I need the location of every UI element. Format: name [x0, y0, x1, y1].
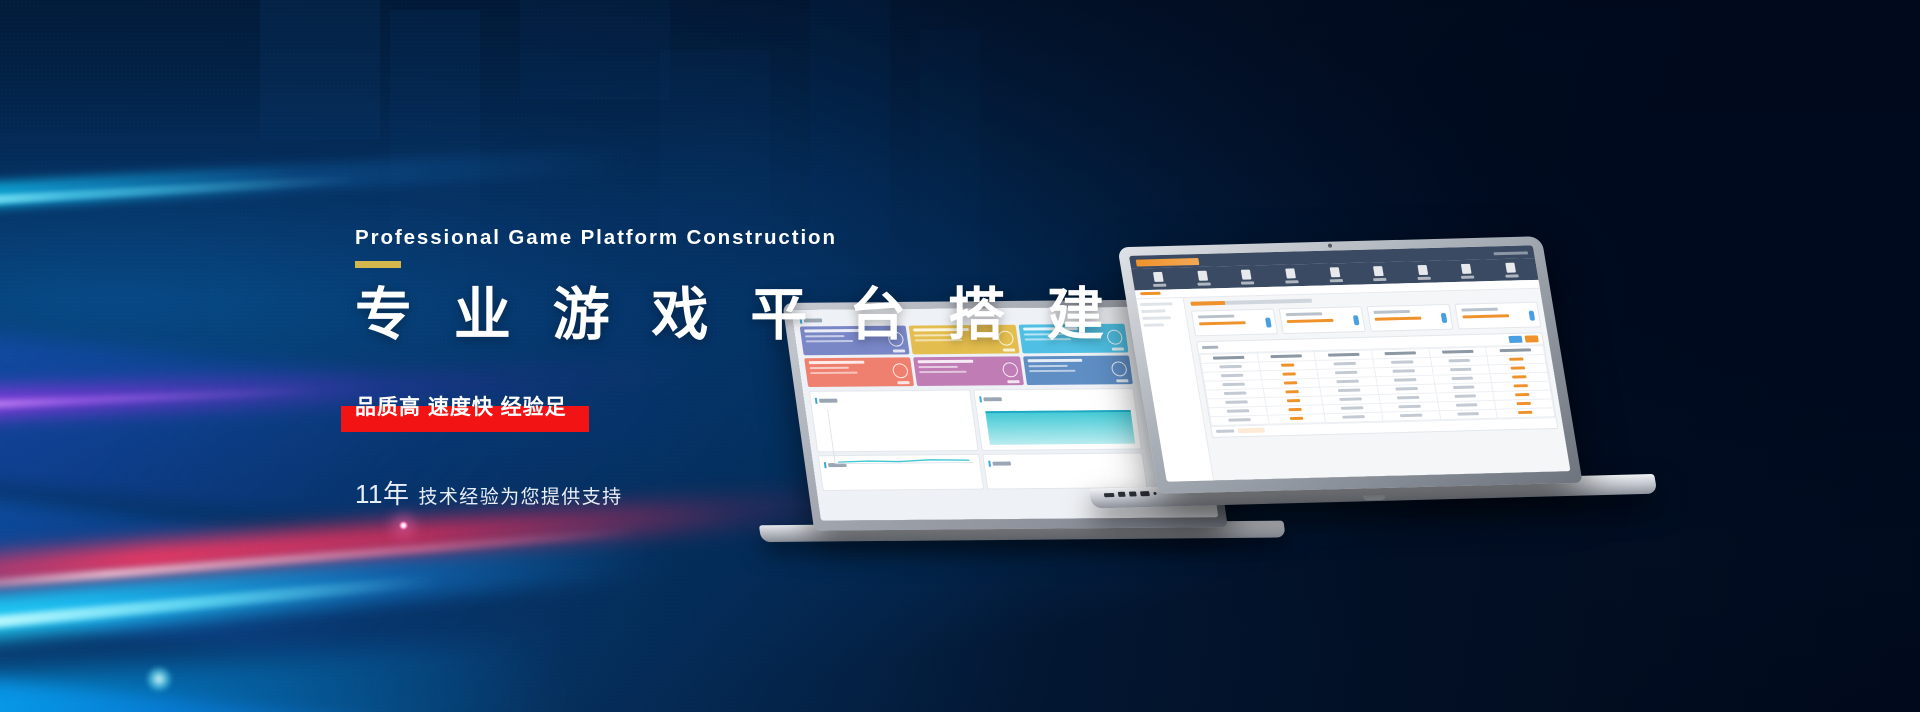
- support-years: 11年: [355, 479, 410, 509]
- banner-copy: Professional Game Platform Construction …: [355, 228, 975, 507]
- tagline-badge: 品质高 速度快 经验足: [355, 393, 567, 418]
- support-text: 技术经验为您提供支持: [419, 487, 623, 508]
- eyebrow-text: Professional Game Platform Construction: [355, 228, 975, 249]
- gold-underline: [355, 261, 401, 268]
- page-title: 专 业 游 戏 平 台 搭 建: [355, 282, 975, 349]
- glow-particle-icon: [399, 521, 408, 530]
- glow-particle-secondary-icon: [146, 666, 172, 692]
- tagline-text: 品质高 速度快 经验足: [355, 393, 567, 418]
- promo-banner: Professional Game Platform Construction …: [0, 0, 1920, 712]
- support-line: 11年技术经验为您提供支持: [355, 481, 975, 507]
